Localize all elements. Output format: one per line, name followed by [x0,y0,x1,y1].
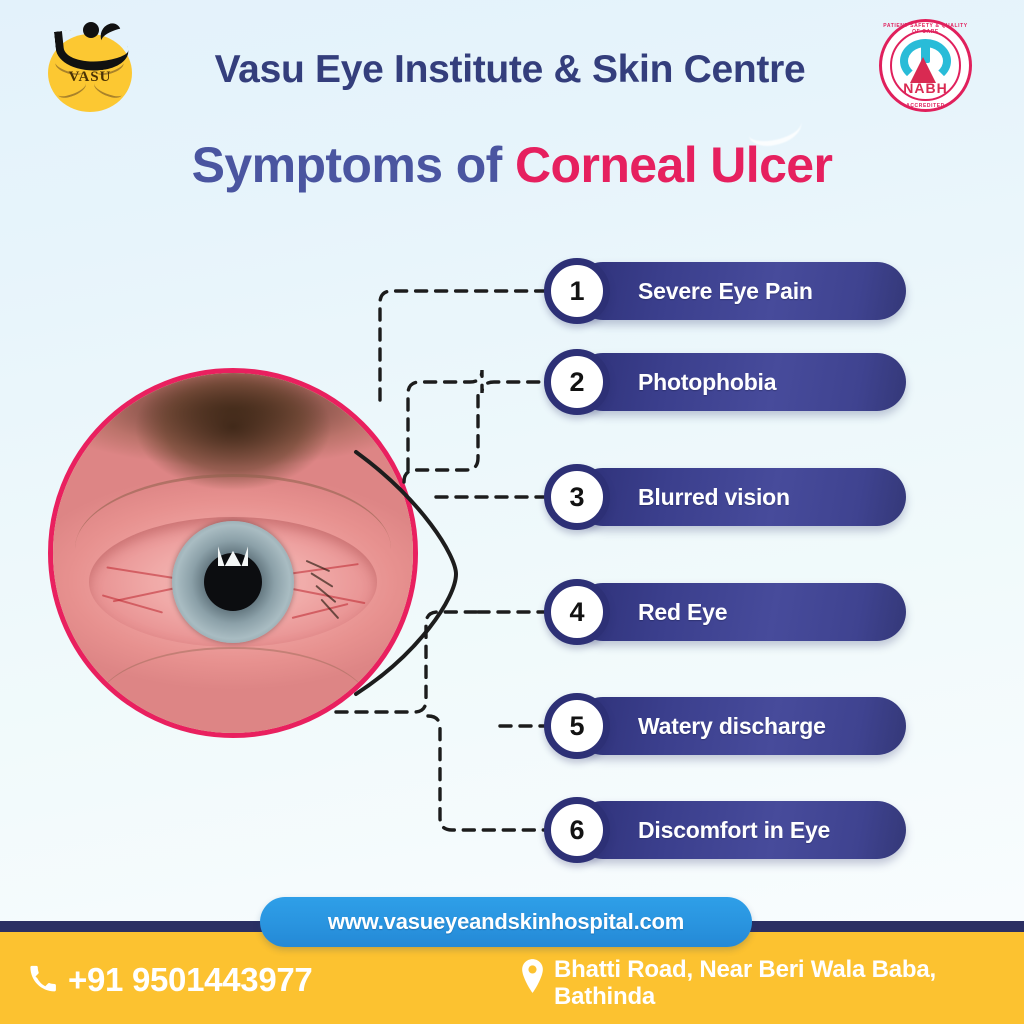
address-line-1: Bhatti Road, Near Beri Wala Baba, [554,956,936,983]
symptom-badge-6: 6 [544,797,610,863]
nabh-arc-top-text: PATIENT SAFETY & QUALITY OF CARE [879,23,972,35]
nabh-arc-bottom-text: ACCREDITED [879,103,972,109]
address-line-2: Bathinda [554,983,655,1010]
cornea-profile-arc [352,448,470,698]
symptom-label-3: Blurred vision [638,484,790,511]
symptom-row-1[interactable]: Severe Eye Pain 1 [544,262,906,324]
symptom-label-1: Severe Eye Pain [638,278,813,305]
symptom-row-3[interactable]: Blurred vision 3 [544,468,906,530]
symptom-badge-3: 3 [544,464,610,530]
organization-title: Vasu Eye Institute & Skin Centre [160,48,860,92]
website-url: www.vasueyeandskinhospital.com [328,909,684,935]
contact-address[interactable]: Bhatti Road, Near Beri Wala Baba,Bathind… [519,957,1019,1011]
symptom-row-4[interactable]: Red Eye 4 [544,583,906,645]
logo-wordmark: VASU [58,69,122,86]
symptom-badge-5: 5 [544,693,610,759]
symptom-row-6[interactable]: Discomfort in Eye 6 [544,801,906,863]
eye-iris [172,521,294,643]
symptom-number-5: 5 [569,713,584,740]
phone-number: +91 9501443977 [68,961,312,999]
symptom-pill-5[interactable]: Watery discharge [574,697,906,755]
symptom-number-6: 6 [569,817,584,844]
page-title: Symptoms of Corneal Ulcer [0,136,1024,194]
contact-phone[interactable]: +91 9501443977 [28,961,312,999]
connector-6 [428,716,545,830]
symptom-pill-6[interactable]: Discomfort in Eye [574,801,906,859]
location-pin-icon [519,959,546,993]
symptom-pill-4[interactable]: Red Eye [574,583,906,641]
symptom-label-6: Discomfort in Eye [638,817,830,844]
nabh-accreditation-badge: PATIENT SAFETY & QUALITY OF CARE NABH AC… [879,19,972,112]
phone-icon [28,963,62,997]
symptom-row-2[interactable]: Photophobia 2 [544,353,906,415]
symptom-pill-1[interactable]: Severe Eye Pain [574,262,906,320]
page-title-prefix: Symptoms of [192,137,515,193]
symptom-number-1: 1 [569,278,584,305]
symptom-badge-4: 4 [544,579,610,645]
symptom-pill-2[interactable]: Photophobia [574,353,906,411]
website-pill[interactable]: www.vasueyeandskinhospital.com [260,897,752,947]
symptom-number-2: 2 [569,369,584,396]
symptom-label-4: Red Eye [638,599,727,626]
symptom-badge-2: 2 [544,349,610,415]
address-text: Bhatti Road, Near Beri Wala Baba,Bathind… [554,957,936,1011]
symptom-number-4: 4 [569,599,584,626]
symptom-pill-3[interactable]: Blurred vision [574,468,906,526]
page-title-highlight: Corneal Ulcer [515,137,832,193]
infographic-poster: VASU Vasu Eye Institute & Skin Centre PA… [0,0,1024,1024]
nabh-center-text: NABH [879,80,972,96]
symptom-label-2: Photophobia [638,369,776,396]
vasu-person-logo: VASU [44,20,136,112]
symptom-row-5[interactable]: Watery discharge 5 [544,697,906,759]
symptom-label-5: Watery discharge [638,713,826,740]
symptom-badge-1: 1 [544,258,610,324]
symptom-number-3: 3 [569,484,584,511]
